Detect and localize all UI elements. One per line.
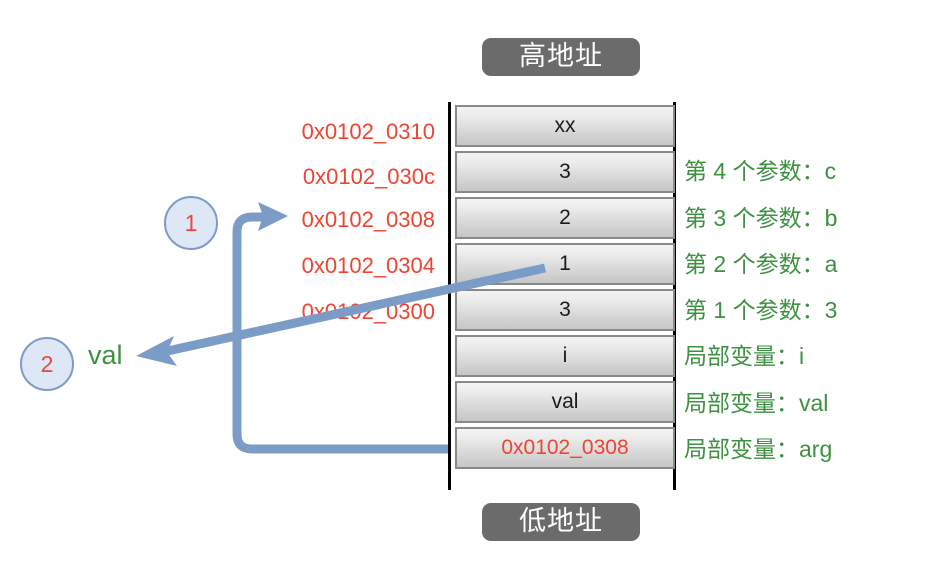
stack-note-label: 局部变量：arg <box>684 434 832 464</box>
stack-note-label: 局部变量：i <box>684 341 804 371</box>
val-variable-label: val <box>88 338 123 372</box>
step-marker-1: 1 <box>164 196 218 250</box>
stack-note-column: 第 4 个参数：c第 3 个参数：b第 2 个参数：a第 1 个参数：3局部变量… <box>684 0 934 566</box>
stack-cell: val <box>455 381 675 423</box>
address-label: 0x0102_0300 <box>175 298 435 326</box>
stack-cell: 0x0102_0308 <box>455 427 675 469</box>
address-label-column: 0x0102_03100x0102_030c0x0102_03080x0102_… <box>175 0 435 566</box>
stack-note-label: 第 2 个参数：a <box>684 249 837 279</box>
stack-cell: 3 <box>455 289 675 331</box>
step-marker-2: 2 <box>20 337 74 391</box>
stack-cell: 2 <box>455 197 675 239</box>
stack-memory-column: xx3213ival0x0102_0308 <box>448 102 676 490</box>
stack-note-label: 第 4 个参数：c <box>684 156 836 186</box>
low-address-badge: 低地址 <box>482 503 640 541</box>
stack-note-label: 第 3 个参数：b <box>684 203 837 233</box>
stack-note-label: 第 1 个参数：3 <box>684 295 837 325</box>
address-label: 0x0102_030c <box>175 163 435 191</box>
address-label: 0x0102_0310 <box>175 118 435 146</box>
stack-frame-diagram: 高地址 0x0102_03100x0102_030c0x0102_03080x0… <box>0 0 938 566</box>
address-label: 0x0102_0304 <box>175 252 435 280</box>
stack-cell: xx <box>455 105 675 147</box>
stack-cell: 3 <box>455 151 675 193</box>
high-address-badge: 高地址 <box>482 38 640 76</box>
stack-cell: 1 <box>455 243 675 285</box>
stack-note-label: 局部变量：val <box>684 388 828 418</box>
stack-cell: i <box>455 335 675 377</box>
